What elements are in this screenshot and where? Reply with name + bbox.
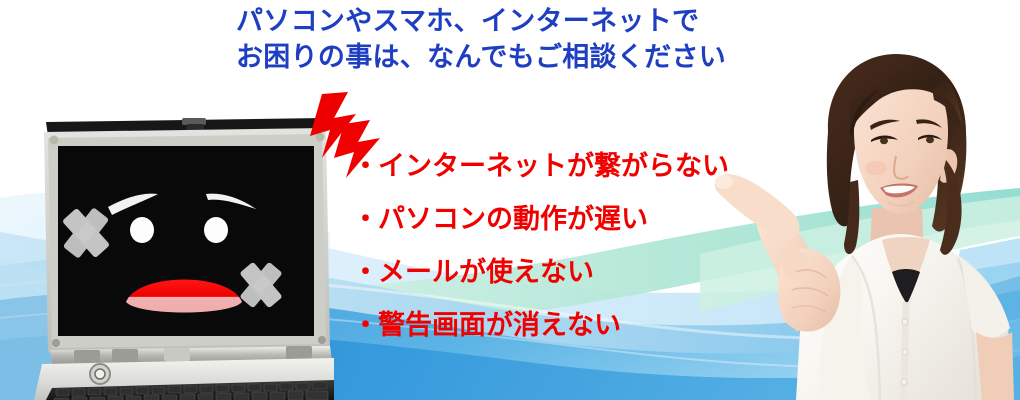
lightning-bolt-icon	[288, 92, 388, 182]
smiling-woman-pointing	[700, 40, 1020, 400]
list-item-label: メールが使えない	[378, 257, 594, 287]
eye-right	[204, 217, 228, 243]
headline-line-1: パソコンやスマホ、インターネットで	[236, 6, 699, 36]
list-item-label: パソコンの動作が遅い	[378, 204, 648, 234]
bullet-marker: ・	[352, 204, 378, 234]
list-item-label: 警告画面が消えない	[378, 310, 621, 340]
eye-left	[130, 217, 154, 243]
list-item-label: インターネットが繋がらない	[378, 151, 729, 181]
bullet-marker: ・	[352, 310, 378, 340]
bullet-marker: ・	[352, 257, 378, 287]
promo-banner: パソコンやスマホ、インターネットで お困りの事は、なんでもご相談ください ・イン…	[0, 0, 1020, 400]
